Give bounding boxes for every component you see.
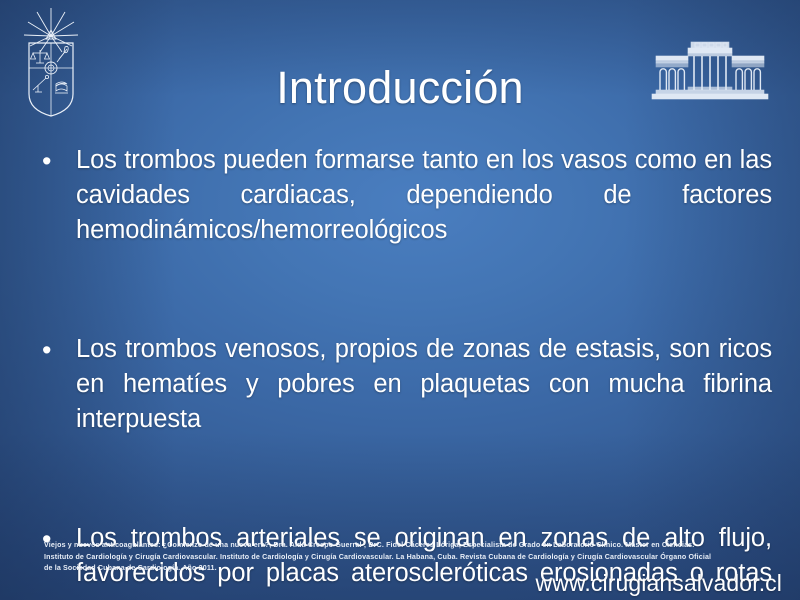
list-item: • Los trombos venosos, propios de zonas …	[38, 332, 772, 472]
list-item: • Los trombos pueden formarse tanto en l…	[38, 143, 772, 283]
bullet-text: Los trombos pueden formarse tanto en los…	[76, 143, 772, 283]
citation-line: Viejos y nuevos anticoagulantes: ¿Comien…	[44, 540, 744, 552]
website-url[interactable]: www.cirugiahsalvador.cl	[536, 570, 782, 597]
bullet-dot-icon: •	[38, 332, 76, 368]
bullet-text: Los trombos venosos, propios de zonas de…	[76, 332, 772, 472]
slide-body: • Los trombos pueden formarse tanto en l…	[38, 143, 772, 600]
bullet-dot-icon: •	[38, 143, 76, 179]
presentation-slide: Introducción	[0, 0, 800, 600]
slide-header: Introducción	[0, 0, 800, 130]
citation-line: Instituto de Cardiología y Cirugía Cardi…	[44, 552, 744, 564]
hospital-san-salvador-building-icon	[650, 38, 770, 110]
